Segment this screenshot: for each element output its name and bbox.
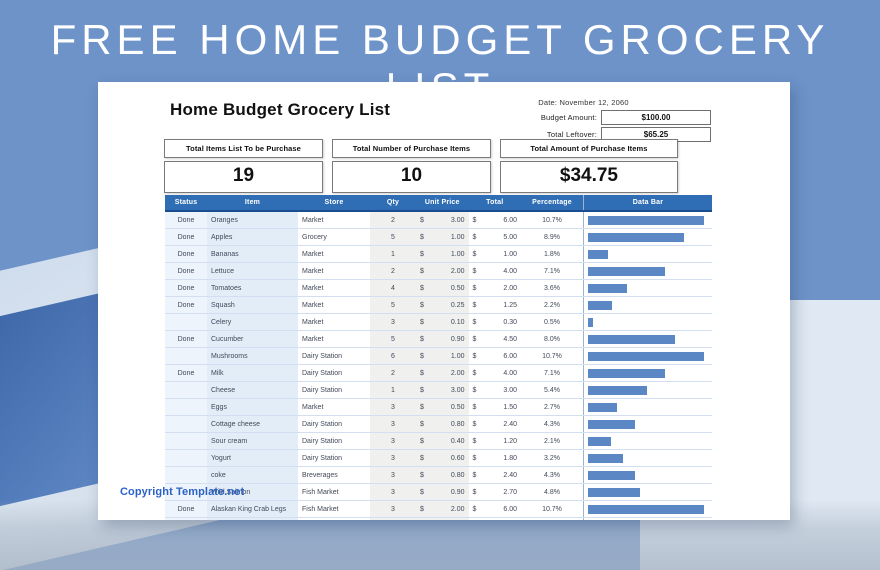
cell-unit-price: 3.00 [442,211,468,229]
cell-status [165,450,207,467]
cell-percentage: 4.8% [521,484,584,501]
cell-status [165,433,207,450]
cell-total: 1.00 [495,518,521,521]
cell-data-bar [584,314,713,331]
data-bar-fill [588,233,684,242]
cell-percentage: 10.7% [521,348,584,365]
table-row[interactable]: DoneTomatoesMarket4$0.50$2.003.6% [165,280,712,297]
column-header-total[interactable]: Total [469,195,522,211]
data-bar-fill [588,216,704,225]
table-row[interactable]: DoneSquashMarket5$0.25$1.252.2% [165,297,712,314]
table-row[interactable]: DoneAlaskan King Crab LegsFish Market3$2… [165,501,712,518]
cell-total-currency: $ [469,331,495,348]
cell-unit-price-currency: $ [416,501,442,518]
cell-percentage: 8.0% [521,331,584,348]
table-row[interactable]: DoneApplesGrocery5$1.00$5.008.9% [165,229,712,246]
data-bar-fill [588,284,627,293]
cell-percentage: 2.2% [521,297,584,314]
cell-data-bar [584,348,713,365]
cell-data-bar [584,246,713,263]
cell-store: Market [298,263,370,280]
table-row[interactable]: EggsMarket3$0.50$1.502.7% [165,399,712,416]
column-header-item[interactable]: Item [207,195,298,211]
cell-unit-price: 1.00 [442,229,468,246]
cell-store: Market [298,297,370,314]
cell-qty: 5 [370,297,416,314]
cell-unit-price: 0.20 [442,518,468,521]
kpi-total-items-list-label: Total Items List To be Purchase [164,139,323,158]
cell-total-currency: $ [469,263,495,280]
table-row[interactable]: Cottage cheeseDairy Station3$0.80$2.404.… [165,416,712,433]
cell-total-currency: $ [469,348,495,365]
cell-unit-price-currency: $ [416,518,442,521]
cell-unit-price: 2.00 [442,263,468,280]
cell-percentage: 10.7% [521,211,584,229]
document-card: Home Budget Grocery List Date: November … [98,82,790,520]
column-header-unit-price[interactable]: Unit Price [416,195,469,211]
cell-qty: 3 [370,314,416,331]
cell-store: Dairy Station [298,450,370,467]
cell-data-bar [584,467,713,484]
cell-qty: 3 [370,501,416,518]
cell-data-bar [584,211,713,229]
data-bar-fill [588,420,635,429]
data-bar-fill [588,369,665,378]
cell-status: Done [165,331,207,348]
cell-store: Fish Market [298,484,370,501]
table-row[interactable]: YogurtDairy Station3$0.60$1.803.2% [165,450,712,467]
cell-percentage: 8.9% [521,229,584,246]
cell-total-currency: $ [469,399,495,416]
cell-unit-price-currency: $ [416,484,442,501]
table-row[interactable]: DoneBananasMarket1$1.00$1.001.8% [165,246,712,263]
cell-qty: 1 [370,382,416,399]
table-row[interactable]: DoneOrangesMarket2$3.00$6.0010.7% [165,211,712,229]
cell-unit-price-currency: $ [416,246,442,263]
cell-status [165,467,207,484]
cell-total-currency: $ [469,297,495,314]
kpi-total-items-list: Total Items List To be Purchase 19 [164,139,323,193]
cell-total: 2.70 [495,484,521,501]
cell-total-currency: $ [469,314,495,331]
cell-item: Alaskan King Crab Legs [207,501,298,518]
cell-status: Done [165,229,207,246]
copyright-link[interactable]: Copyright Template.net [120,486,244,498]
cell-unit-price-currency: $ [416,211,442,229]
cell-percentage: 2.1% [521,433,584,450]
cell-data-bar [584,229,713,246]
cell-qty: 2 [370,211,416,229]
date-label: Date: November 12, 2060 [456,98,711,107]
cell-data-bar [584,501,713,518]
kpi-total-amount-purchase: Total Amount of Purchase Items $34.75 [500,139,678,193]
cell-total-currency: $ [469,467,495,484]
cell-percentage: 7.1% [521,365,584,382]
cell-store: Fish Market [298,501,370,518]
cell-unit-price: 0.60 [442,450,468,467]
cell-total-currency: $ [469,433,495,450]
cell-data-bar [584,484,713,501]
cell-total: 4.00 [495,263,521,280]
cell-total-currency: $ [469,450,495,467]
data-bar-fill [588,488,640,497]
cell-item: Oranges [207,211,298,229]
cell-unit-price-currency: $ [416,280,442,297]
cell-unit-price-currency: $ [416,382,442,399]
data-bar-fill [588,352,704,361]
cell-status: Done [165,501,207,518]
cell-percentage: 3.6% [521,280,584,297]
cell-percentage: 5.4% [521,382,584,399]
cell-qty: 3 [370,433,416,450]
kpi-total-amount-purchase-label: Total Amount of Purchase Items [500,139,678,158]
table-row[interactable]: Sour creamDairy Station3$0.40$1.202.1% [165,433,712,450]
cell-store: Market [298,246,370,263]
cell-qty: 5 [370,331,416,348]
table-row[interactable]: CheeseDairy Station1$3.00$3.005.4% [165,382,712,399]
table-row[interactable]: DoneCucumberMarket5$0.90$4.508.0% [165,331,712,348]
column-header-store[interactable]: Store [298,195,370,211]
cell-unit-price-currency: $ [416,416,442,433]
cell-percentage: 0.5% [521,314,584,331]
cell-total: 2.40 [495,416,521,433]
table-row[interactable]: DoneLettuceMarket2$2.00$4.007.1% [165,263,712,280]
cell-unit-price-currency: $ [416,450,442,467]
cell-data-bar [584,280,713,297]
cell-unit-price-currency: $ [416,348,442,365]
budget-amount-label: Budget Amount: [541,113,597,122]
cell-data-bar [584,297,713,314]
cell-unit-price: 0.50 [442,280,468,297]
cell-item: Squash [207,297,298,314]
cell-total: 6.00 [495,211,521,229]
cell-status: Done [165,263,207,280]
cell-total: 1.20 [495,433,521,450]
cell-data-bar [584,399,713,416]
cell-status [165,382,207,399]
cell-item: Cottage cheese [207,416,298,433]
cell-total-currency: $ [469,484,495,501]
table-body: DoneOrangesMarket2$3.00$6.0010.7%DoneApp… [165,211,712,520]
cell-qty: 4 [370,280,416,297]
cell-status [165,399,207,416]
cell-store: Market [298,211,370,229]
cell-store: Dairy Station [298,348,370,365]
cell-data-bar [584,263,713,280]
sheet-title: Home Budget Grocery List [170,100,390,120]
table-row[interactable]: cokeBreverages3$0.80$2.404.3% [165,467,712,484]
cell-unit-price: 2.00 [442,365,468,382]
table-row[interactable]: Wild SalmonFish Market3$0.90$2.704.8% [165,484,712,501]
cell-qty: 2 [370,263,416,280]
data-bar-fill [588,267,665,276]
cell-store: Market [298,280,370,297]
cell-item: Sour cream [207,433,298,450]
table-row[interactable]: MushroomsDairy Station6$1.00$6.0010.7% [165,348,712,365]
cell-total: 1.50 [495,399,521,416]
cell-item: Milk [207,365,298,382]
cell-unit-price-currency: $ [416,365,442,382]
data-bar-fill [588,301,612,310]
table-row[interactable]: DoneMilkDairy Station2$2.00$4.007.1% [165,365,712,382]
cell-total-currency: $ [469,365,495,382]
cell-total: 5.00 [495,229,521,246]
cell-unit-price: 3.00 [442,382,468,399]
cell-percentage: 10.7% [521,501,584,518]
cell-data-bar [584,450,713,467]
cell-store: Market [298,399,370,416]
cell-percentage: 2.7% [521,399,584,416]
data-bar-fill [588,318,593,327]
cell-total: 0.30 [495,314,521,331]
budget-info-block: Date: November 12, 2060 Budget Amount: $… [456,98,711,144]
cell-item: Eggs [207,399,298,416]
cell-store: Dairy Station [298,416,370,433]
cell-data-bar [584,365,713,382]
cell-total-currency: $ [469,211,495,229]
cell-total-currency: $ [469,246,495,263]
cell-item: coke [207,467,298,484]
cell-total: 2.00 [495,280,521,297]
kpi-row: Total Items List To be Purchase 19 Total… [164,139,678,193]
table-row[interactable]: CeleryMarket3$0.10$0.300.5% [165,314,712,331]
cell-item: Bananas [207,246,298,263]
cell-total: 6.00 [495,501,521,518]
data-bar-fill [588,454,623,463]
cell-item: Brocolli [207,518,298,521]
cell-item: Yogurt [207,450,298,467]
cell-item: Cucumber [207,331,298,348]
column-header-status[interactable]: Status [165,195,207,211]
cell-percentage: 4.3% [521,416,584,433]
kpi-total-number-purchase-label: Total Number of Purchase Items [332,139,491,158]
cell-percentage: 7.1% [521,263,584,280]
table-header-row: Status Item Store Qty Unit Price Total P… [165,195,712,211]
cell-store: Market [298,331,370,348]
cell-unit-price: 0.90 [442,484,468,501]
cell-total-currency: $ [469,382,495,399]
cell-item: Cheese [207,382,298,399]
column-header-qty[interactable]: Qty [370,195,416,211]
cell-unit-price-currency: $ [416,314,442,331]
cell-total: 1.80 [495,450,521,467]
cell-percentage: 4.3% [521,467,584,484]
cell-unit-price-currency: $ [416,297,442,314]
cell-unit-price: 0.50 [442,399,468,416]
cell-status: Done [165,518,207,521]
cell-unit-price: 0.25 [442,297,468,314]
cell-status: Done [165,365,207,382]
cell-status: Done [165,246,207,263]
cell-qty: 6 [370,348,416,365]
table-row[interactable]: DoneBrocolliGrocery5$0.20$1.001.8% [165,518,712,521]
cell-status: Done [165,297,207,314]
cell-store: Market [298,314,370,331]
cell-unit-price: 1.00 [442,348,468,365]
cell-status [165,416,207,433]
cell-unit-price-currency: $ [416,467,442,484]
grocery-table: Status Item Store Qty Unit Price Total P… [165,195,712,520]
cell-unit-price: 1.00 [442,246,468,263]
budget-amount-row: Budget Amount: $100.00 [456,110,711,125]
cell-store: Breverages [298,467,370,484]
cell-total-currency: $ [469,280,495,297]
cell-item: Mushrooms [207,348,298,365]
column-header-data-bar[interactable]: Data Bar [584,195,713,211]
data-bar-fill [588,386,647,395]
kpi-total-items-list-value: 19 [164,161,323,193]
cell-qty: 3 [370,450,416,467]
cell-item: Apples [207,229,298,246]
cell-total: 4.50 [495,331,521,348]
cell-unit-price-currency: $ [416,331,442,348]
cell-qty: 5 [370,518,416,521]
cell-data-bar [584,331,713,348]
cell-percentage: 1.8% [521,518,584,521]
cell-store: Grocery [298,229,370,246]
cell-status: Done [165,280,207,297]
kpi-total-amount-purchase-value: $34.75 [500,161,678,193]
cell-total: 1.00 [495,246,521,263]
cell-total-currency: $ [469,501,495,518]
cell-unit-price: 0.90 [442,331,468,348]
cell-qty: 3 [370,399,416,416]
cell-total: 6.00 [495,348,521,365]
cell-qty: 5 [370,229,416,246]
cell-unit-price-currency: $ [416,229,442,246]
data-bar-fill [588,250,608,259]
cell-store: Dairy Station [298,365,370,382]
cell-unit-price-currency: $ [416,433,442,450]
cell-unit-price: 0.10 [442,314,468,331]
cell-store: Dairy Station [298,382,370,399]
data-bar-fill [588,335,675,344]
cell-store: Dairy Station [298,433,370,450]
kpi-total-number-purchase-value: 10 [332,161,491,193]
cell-total-currency: $ [469,416,495,433]
cell-data-bar [584,416,713,433]
column-header-percentage[interactable]: Percentage [521,195,584,211]
cell-unit-price-currency: $ [416,263,442,280]
cell-qty: 1 [370,246,416,263]
cell-unit-price: 2.00 [442,501,468,518]
cell-total-currency: $ [469,229,495,246]
cell-data-bar [584,518,713,521]
cell-qty: 3 [370,467,416,484]
cell-total: 4.00 [495,365,521,382]
cell-data-bar [584,382,713,399]
cell-total: 2.40 [495,467,521,484]
cell-store: Grocery [298,518,370,521]
cell-qty: 3 [370,416,416,433]
budget-amount-value[interactable]: $100.00 [601,110,711,125]
cell-status [165,348,207,365]
cell-total-currency: $ [469,518,495,521]
kpi-total-number-purchase: Total Number of Purchase Items 10 [332,139,491,193]
cell-unit-price: 0.80 [442,416,468,433]
data-bar-fill [588,471,635,480]
cell-status: Done [165,211,207,229]
cell-percentage: 3.2% [521,450,584,467]
data-bar-fill [588,437,611,446]
cell-item: Celery [207,314,298,331]
cell-percentage: 1.8% [521,246,584,263]
total-leftover-label: Total Leftover: [547,130,597,139]
cell-total: 3.00 [495,382,521,399]
cell-unit-price: 0.40 [442,433,468,450]
cell-qty: 2 [370,365,416,382]
cell-unit-price: 0.80 [442,467,468,484]
cell-item: Tomatoes [207,280,298,297]
cell-status [165,314,207,331]
cell-unit-price-currency: $ [416,399,442,416]
cell-total: 1.25 [495,297,521,314]
data-bar-fill [588,403,617,412]
cell-item: Lettuce [207,263,298,280]
data-bar-fill [588,505,704,514]
cell-data-bar [584,433,713,450]
cell-qty: 3 [370,484,416,501]
